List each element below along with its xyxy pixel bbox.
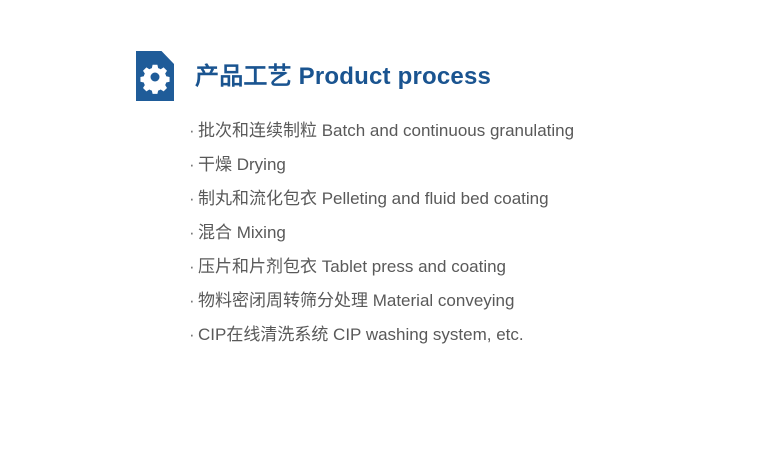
list-item: · 批次和连续制粒 Batch and continuous granulati…: [189, 114, 574, 148]
list-item-label: 压片和片剂包衣 Tablet press and coating: [198, 250, 506, 284]
bullet-icon: ·: [189, 182, 198, 216]
list-item-label: 混合 Mixing: [198, 216, 286, 250]
bullet-icon: ·: [189, 284, 198, 318]
list-item: · CIP在线清洗系统 CIP washing system, etc.: [189, 318, 574, 352]
list-item: · 压片和片剂包衣 Tablet press and coating: [189, 250, 574, 284]
bullet-icon: ·: [189, 148, 198, 182]
list-item-label: 物料密闭周转筛分处理 Material conveying: [198, 284, 514, 318]
bullet-icon: ·: [189, 114, 198, 148]
page-title: 产品工艺 Product process: [195, 63, 491, 91]
product-process-list: · 批次和连续制粒 Batch and continuous granulati…: [189, 114, 574, 352]
list-item: · 干燥 Drying: [189, 148, 574, 182]
list-item: · 混合 Mixing: [189, 216, 574, 250]
list-item: · 物料密闭周转筛分处理 Material conveying: [189, 284, 574, 318]
list-item-label: CIP在线清洗系统 CIP washing system, etc.: [198, 318, 524, 352]
product-process-panel: 产品工艺 Product process · 批次和连续制粒 Batch and…: [0, 0, 759, 455]
bullet-icon: ·: [189, 318, 198, 352]
bullet-icon: ·: [189, 250, 198, 284]
list-item-label: 制丸和流化包衣 Pelleting and fluid bed coating: [198, 182, 549, 216]
bullet-icon: ·: [189, 216, 198, 250]
list-item-label: 批次和连续制粒 Batch and continuous granulating: [198, 114, 574, 148]
list-item: · 制丸和流化包衣 Pelleting and fluid bed coatin…: [189, 182, 574, 216]
list-item-label: 干燥 Drying: [198, 148, 286, 182]
section-header: 产品工艺 Product process: [136, 51, 491, 101]
document-gear-icon: [136, 51, 174, 101]
